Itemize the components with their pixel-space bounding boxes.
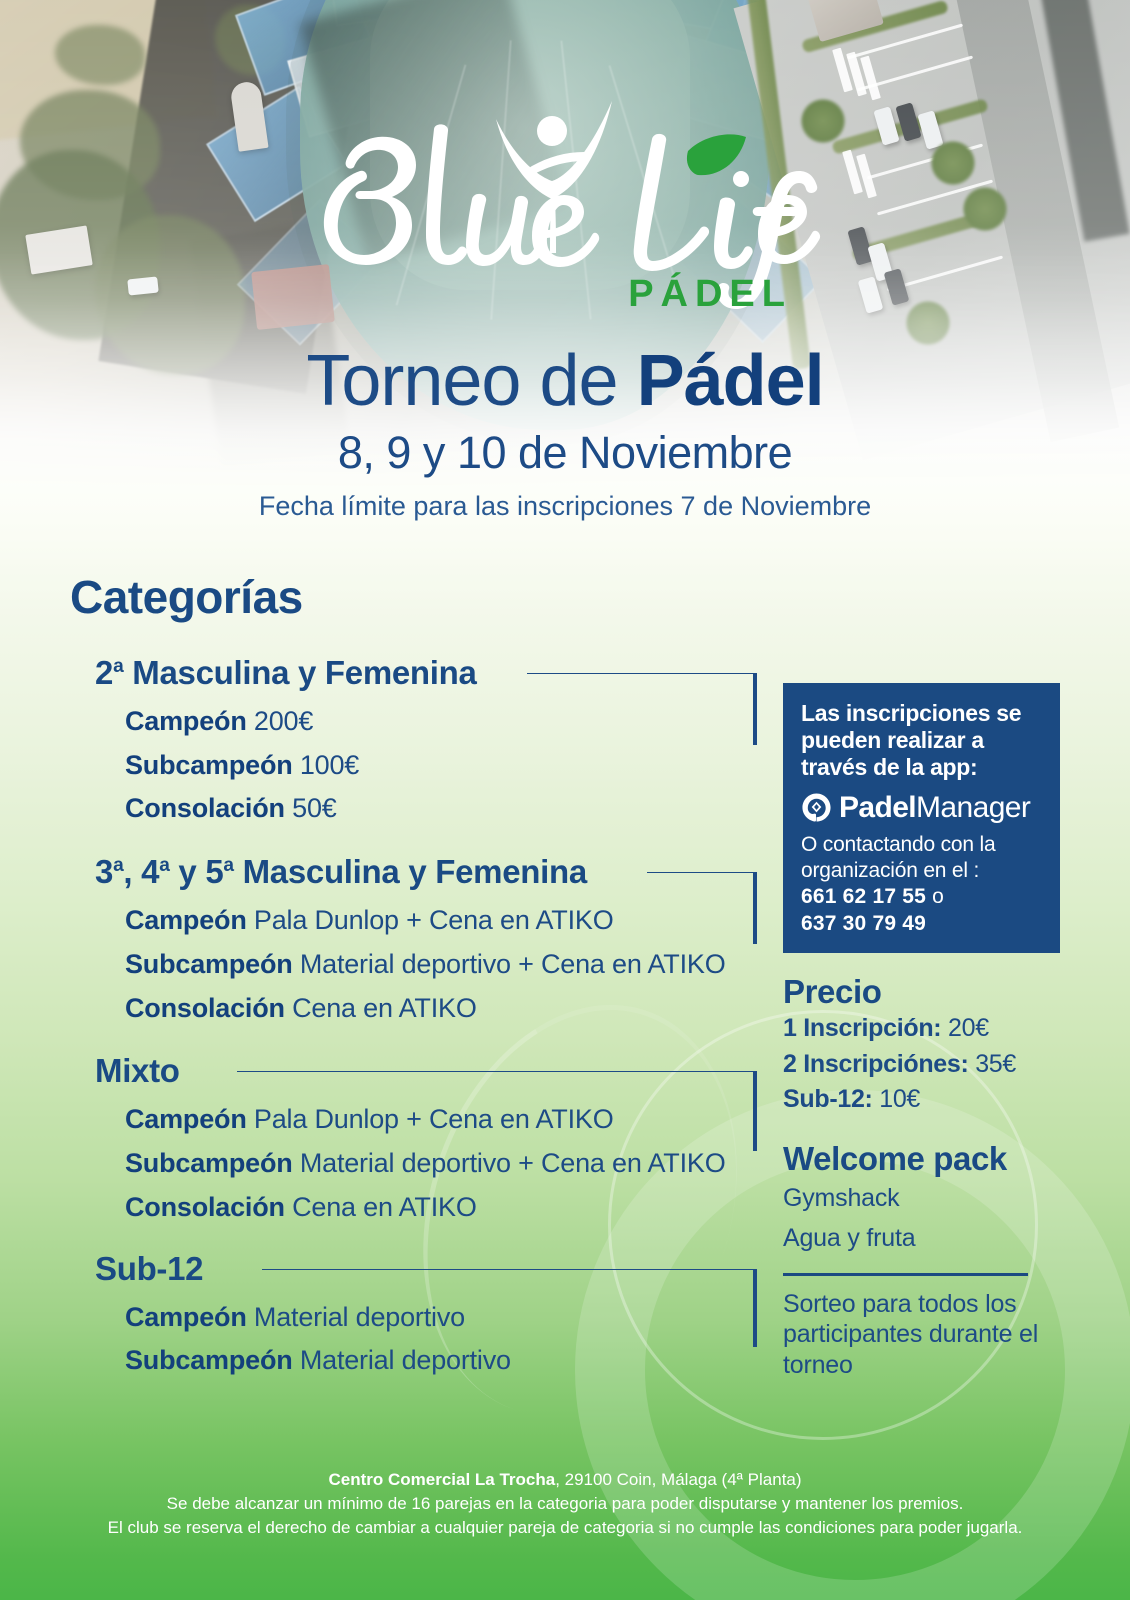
padelmanager-wordmark: PadelManager <box>839 793 1030 823</box>
tournament-dates: 8, 9 y 10 de Noviembre <box>0 427 1130 479</box>
category-bracket-line <box>262 1269 757 1270</box>
category-block: Mixto Campeón Pala Dunlop + Cena en ATIK… <box>0 1048 790 1229</box>
prize-value: 200€ <box>247 706 314 736</box>
prize-label: Campeón <box>125 706 247 736</box>
category-title-row: Mixto <box>0 1048 790 1094</box>
footer-venue-address: , 29100 Coin, Málaga (4ª Planta) <box>555 1470 801 1489</box>
page-title: Torneo de Pádel <box>0 345 1130 417</box>
prize-label: Consolación <box>125 993 285 1023</box>
categories-list: 2a Masculina y Femenina Campeón 200€ Sub… <box>0 650 790 1385</box>
poster-root: PÁDEL Torneo de Pádel 8, 9 y 10 de Novie… <box>0 0 1130 1600</box>
welcome-pack-heading: Welcome pack <box>783 1140 1068 1178</box>
categories-heading: Categorías <box>70 570 303 624</box>
app-box-contact-text: O contactando con la organización en el … <box>801 832 1042 884</box>
raffle-note: Sorteo para todos los participantes dura… <box>783 1289 1068 1381</box>
phone-separator: o <box>926 885 944 908</box>
category-block: Sub-12 Campeón Material deportivo Subcam… <box>0 1246 790 1383</box>
prize-value: Pala Dunlop + Cena en ATIKO <box>247 1104 614 1134</box>
category-prizes: Campeón Pala Dunlop + Cena en ATIKO Subc… <box>0 1094 790 1229</box>
footer-condition-1: Se debe alcanzar un mínimo de 16 parejas… <box>0 1492 1130 1516</box>
prize-label: Consolación <box>125 1192 285 1222</box>
footer-condition-2: El club se reserva el derecho de cambiar… <box>0 1516 1130 1540</box>
price-value: 20€ <box>941 1014 988 1042</box>
padelmanager-logo: PadelManager <box>801 792 1042 823</box>
category-bracket-tick <box>753 673 757 745</box>
price-label: 2 Inscripciónes: <box>783 1050 969 1078</box>
prize-row: Campeón Material deportivo <box>125 1296 790 1340</box>
category-title: 2a Masculina y Femenina <box>95 654 477 692</box>
prize-value: Material deportivo <box>247 1302 465 1332</box>
logo-padel-subtitle: PÁDEL <box>628 273 792 316</box>
prize-value: Pala Dunlop + Cena en ATIKO <box>247 905 614 935</box>
category-block: 2a Masculina y Femenina Campeón 200€ Sub… <box>0 650 790 831</box>
footer: Centro Comercial La Trocha, 29100 Coin, … <box>0 1468 1130 1540</box>
app-box-header: Las inscripciones se pueden realizar a t… <box>801 700 1042 781</box>
welcome-pack-item: Agua y fruta <box>783 1218 1068 1259</box>
padelmanager-light: Manager <box>916 791 1030 824</box>
footer-venue: Centro Comercial La Trocha, 29100 Coin, … <box>0 1468 1130 1492</box>
category-bracket-tick <box>753 872 757 944</box>
price-value: 10€ <box>873 1085 920 1113</box>
padelmanager-icon <box>801 792 832 823</box>
category-title-row: 3a, 4a y 5a Masculina y Femenina <box>0 849 790 895</box>
prize-row: Consolación Cena en ATIKO <box>125 987 790 1031</box>
prize-value: Cena en ATIKO <box>285 993 477 1023</box>
price-label: 1 Inscripción: <box>783 1014 941 1042</box>
category-bracket-line <box>237 1071 757 1072</box>
category-title: Mixto <box>95 1052 180 1090</box>
prize-value: 50€ <box>285 793 337 823</box>
prize-value: Material deportivo + Cena en ATIKO <box>293 949 726 979</box>
right-column: Las inscripciones se pueden realizar a t… <box>783 683 1068 1380</box>
category-bracket-tick <box>753 1071 757 1151</box>
price-label: Sub-12: <box>783 1085 873 1113</box>
category-bracket-line <box>527 673 757 674</box>
prize-value: Material deportivo <box>293 1345 511 1375</box>
prize-label: Campeón <box>125 1104 247 1134</box>
welcome-pack-item: Gymshack <box>783 1178 1068 1219</box>
category-title: 3a, 4a y 5a Masculina y Femenina <box>95 853 587 891</box>
category-prizes: Campeón 200€ Subcampeón 100€ Consolación… <box>0 696 790 831</box>
bluelife-logo: PÁDEL <box>300 95 830 310</box>
prize-row: Subcampeón Material deportivo <box>125 1339 790 1383</box>
prize-row: Subcampeón Material deportivo + Cena en … <box>125 1142 790 1186</box>
category-block: 3a, 4a y 5a Masculina y Femenina Campeón… <box>0 849 790 1030</box>
category-title: Sub-12 <box>95 1250 203 1288</box>
title-bold: Pádel <box>637 341 824 421</box>
price-row: 1 Inscripción: 20€ <box>783 1011 1068 1047</box>
category-prizes: Campeón Material deportivo Subcampeón Ma… <box>0 1292 790 1383</box>
prize-label: Campeón <box>125 905 247 935</box>
category-prizes: Campeón Pala Dunlop + Cena en ATIKO Subc… <box>0 895 790 1030</box>
prize-row: Consolación Cena en ATIKO <box>125 1186 790 1230</box>
prize-row: Campeón Pala Dunlop + Cena en ATIKO <box>125 899 790 943</box>
category-title-row: 2a Masculina y Femenina <box>0 650 790 696</box>
title-light: Torneo de <box>306 341 636 421</box>
prize-row: Campeón Pala Dunlop + Cena en ATIKO <box>125 1098 790 1142</box>
padelmanager-bold: Padel <box>839 791 916 824</box>
phone-number-1[interactable]: 661 62 17 55 o <box>801 884 1042 910</box>
prize-value: 100€ <box>293 750 360 780</box>
prize-label: Subcampeón <box>125 949 293 979</box>
prize-label: Subcampeón <box>125 1148 293 1178</box>
prize-label: Subcampeón <box>125 750 293 780</box>
price-heading: Precio <box>783 973 1068 1011</box>
registration-deadline: Fecha límite para las inscripciones 7 de… <box>0 491 1130 522</box>
prize-label: Consolación <box>125 793 285 823</box>
section-divider <box>783 1273 1028 1276</box>
app-registration-box: Las inscripciones se pueden realizar a t… <box>783 683 1060 953</box>
prize-value: Material deportivo + Cena en ATIKO <box>293 1148 726 1178</box>
prize-row: Subcampeón 100€ <box>125 744 790 788</box>
category-bracket-line <box>647 872 757 873</box>
category-title-row: Sub-12 <box>0 1246 790 1292</box>
price-row: Sub-12: 10€ <box>783 1082 1068 1118</box>
prize-row: Campeón 200€ <box>125 700 790 744</box>
phone-number-2[interactable]: 637 30 79 49 <box>801 911 1042 937</box>
price-row: 2 Inscripciónes: 35€ <box>783 1047 1068 1083</box>
phone-1-value: 661 62 17 55 <box>801 885 926 908</box>
prize-row: Subcampeón Material deportivo + Cena en … <box>125 943 790 987</box>
prize-label: Subcampeón <box>125 1345 293 1375</box>
category-bracket-tick <box>753 1269 757 1347</box>
prize-value: Cena en ATIKO <box>285 1192 477 1222</box>
title-block: Torneo de Pádel 8, 9 y 10 de Noviembre F… <box>0 345 1130 522</box>
price-value: 35€ <box>969 1050 1016 1078</box>
footer-venue-name: Centro Comercial La Trocha <box>328 1470 555 1489</box>
prize-row: Consolación 50€ <box>125 787 790 831</box>
prize-label: Campeón <box>125 1302 247 1332</box>
